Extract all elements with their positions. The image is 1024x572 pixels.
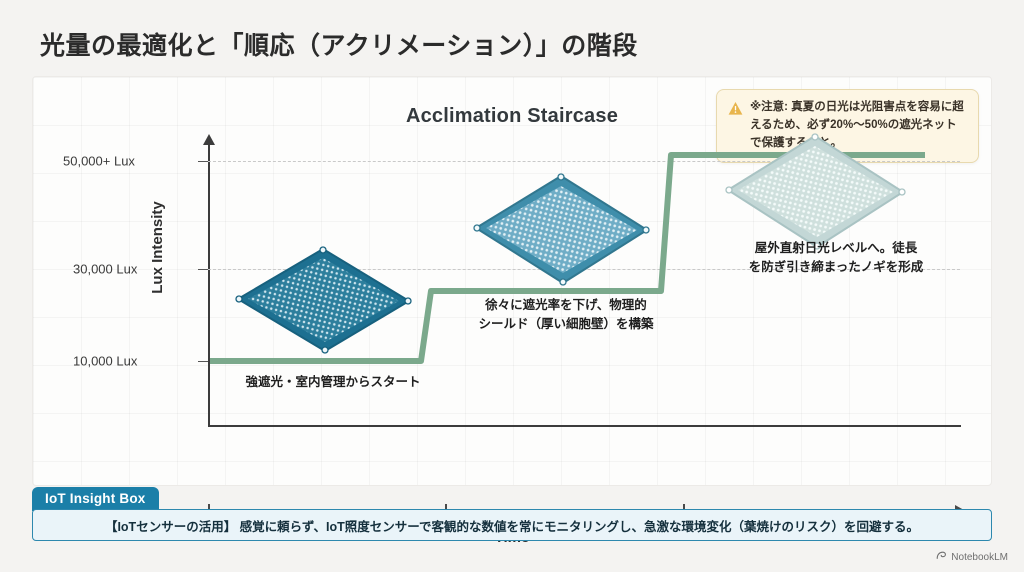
y-label-10000: 10,000 Lux [73,354,173,369]
iot-insight-text: 【IoTセンサーの活用】 感覚に頼らず、IoT照度センサーで客観的な数値を常にモ… [105,516,919,535]
annotation-week3: 屋外直射日光レベルへ。徒長 を防ぎ引き締まったノギを形成 [721,239,951,277]
iot-insight-body: 【IoTセンサーの活用】 感覚に頼らず、IoT照度センサーで客観的な数値を常にモ… [32,509,992,541]
shade-net-light [723,132,908,252]
chart-card: Acclimation Staircase ※注意: 真夏の日光は光阻害点を容易… [32,76,992,486]
shade-net-medium [471,172,651,287]
annotation-week2: 徐々に遮光率を下げ、物理的 シールド（厚い細胞壁）を構築 [456,296,676,334]
y-label-50000: 50,000+ Lux [63,154,173,169]
warning-triangle-icon [728,101,743,116]
watermark-label: NotebookLM [951,552,1008,563]
iot-insight-tab: IoT Insight Box [32,487,159,511]
page-title: 光量の最適化と「順応（アクリメーション）」の階段 [40,26,638,62]
annotation-week1: 強遮光・室内管理からスタート [218,373,448,392]
plot-area: Lux Intensity 50,000+ Lux 30,000 Lux 10,… [173,139,963,429]
shade-net-heavy [233,245,413,355]
y-label-30000: 30,000 Lux [73,262,173,277]
y-axis-title: Lux Intensity [149,201,166,294]
watermark: NotebookLM [936,550,1008,564]
notebooklm-icon [936,550,947,564]
